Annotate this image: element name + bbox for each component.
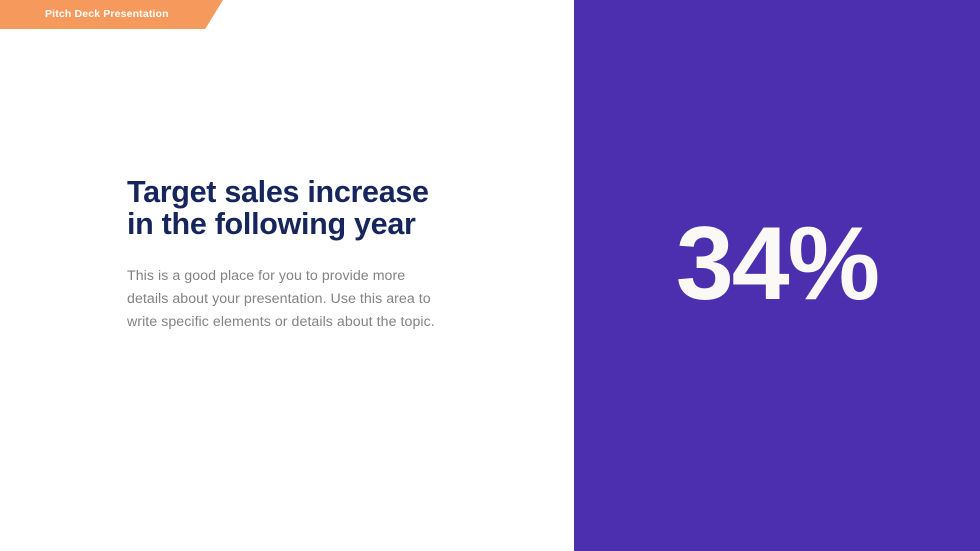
- slide-headline: Target sales increase in the following y…: [127, 176, 457, 241]
- ribbon-banner: Pitch Deck Presentation: [0, 0, 223, 29]
- presentation-slide: Pitch Deck Presentation Target sales inc…: [0, 0, 980, 551]
- content-column: Target sales increase in the following y…: [127, 176, 457, 334]
- slide-body-text: This is a good place for you to provide …: [127, 241, 447, 334]
- stat-panel: 34%: [574, 0, 980, 551]
- stat-value: 34%: [676, 212, 878, 316]
- ribbon-label: Pitch Deck Presentation: [0, 9, 169, 20]
